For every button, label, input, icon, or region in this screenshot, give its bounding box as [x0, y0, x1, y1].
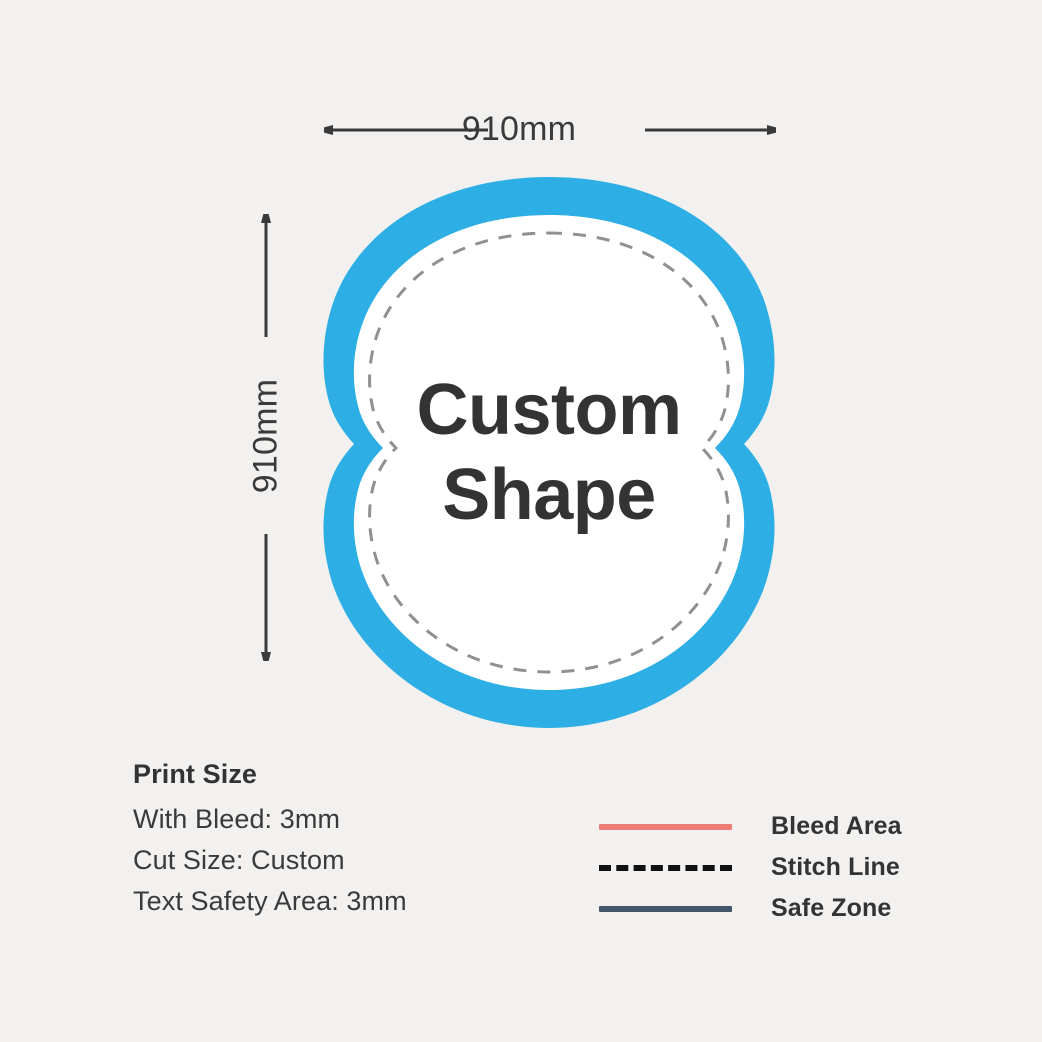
bleed-area-swatch-icon	[599, 820, 732, 834]
print-info-text-safety: Text Safety Area: 3mm	[133, 881, 407, 922]
shape-caption: Custom Shape	[318, 368, 780, 538]
height-dimension-label: 910mm	[247, 379, 286, 493]
shape-caption-line-1: Custom	[318, 368, 780, 453]
print-info-cut-size: Cut Size: Custom	[133, 840, 407, 881]
safe-zone-swatch-icon	[599, 902, 732, 916]
width-dimension-label: 910mm	[0, 110, 1040, 149]
shape-caption-line-2: Shape	[318, 453, 780, 538]
artboard-canvas: 910mm 910mm Custom Shape Print Size With…	[0, 0, 1042, 1042]
legend-label-bleed-area: Bleed Area	[771, 812, 902, 841]
legend: Bleed Area Stitch Line Safe Zone	[599, 806, 902, 929]
stitch-line-swatch-icon	[599, 861, 732, 875]
legend-item-safe-zone: Safe Zone	[599, 888, 902, 929]
legend-label-safe-zone: Safe Zone	[771, 894, 891, 923]
print-info-with-bleed: With Bleed: 3mm	[133, 799, 407, 840]
legend-label-stitch-line: Stitch Line	[771, 853, 900, 882]
print-size-info: Print Size With Bleed: 3mm Cut Size: Cus…	[133, 759, 407, 922]
print-size-title: Print Size	[133, 759, 407, 790]
legend-item-bleed-area: Bleed Area	[599, 806, 902, 847]
legend-item-stitch-line: Stitch Line	[599, 847, 902, 888]
